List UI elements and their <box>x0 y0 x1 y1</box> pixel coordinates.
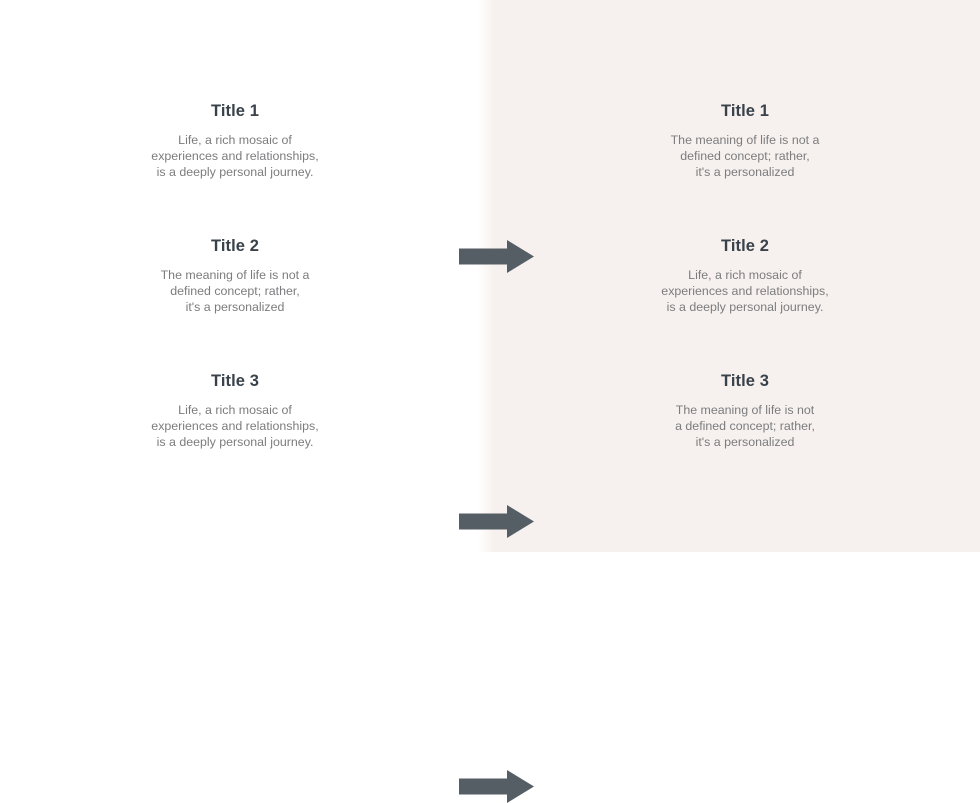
arrow-right-icon <box>459 505 534 538</box>
right-card-body: Life, a rich mosaic of experiences and r… <box>595 267 895 316</box>
left-card-body: Life, a rich mosaic of experiences and r… <box>85 132 385 181</box>
left-card-2[interactable]: Title 2 The meaning of life is not a def… <box>85 236 385 316</box>
left-card-title: Title 1 <box>85 101 385 121</box>
comparison-row: Title 1 Life, a rich mosaic of experienc… <box>0 101 980 211</box>
right-card-title: Title 3 <box>595 371 895 391</box>
arrow-right-icon <box>459 770 534 803</box>
right-card-body: The meaning of life is not a defined con… <box>595 402 895 451</box>
left-card-3[interactable]: Title 3 Life, a rich mosaic of experienc… <box>85 371 385 451</box>
left-card-title: Title 2 <box>85 236 385 256</box>
left-card-title: Title 3 <box>85 371 385 391</box>
right-card-3[interactable]: Title 3 The meaning of life is not a def… <box>595 371 895 451</box>
right-card-title: Title 1 <box>595 101 895 121</box>
comparison-row: Title 2 The meaning of life is not a def… <box>0 236 980 346</box>
slide-canvas: Title 1 Life, a rich mosaic of experienc… <box>0 0 980 552</box>
left-card-1[interactable]: Title 1 Life, a rich mosaic of experienc… <box>85 101 385 181</box>
left-card-body: The meaning of life is not a defined con… <box>85 267 385 316</box>
right-card-1[interactable]: Title 1 The meaning of life is not a def… <box>595 101 895 181</box>
right-card-body: The meaning of life is not a defined con… <box>595 132 895 181</box>
comparison-row: Title 3 Life, a rich mosaic of experienc… <box>0 371 980 481</box>
right-card-title: Title 2 <box>595 236 895 256</box>
left-card-body: Life, a rich mosaic of experiences and r… <box>85 402 385 451</box>
right-card-2[interactable]: Title 2 Life, a rich mosaic of experienc… <box>595 236 895 316</box>
